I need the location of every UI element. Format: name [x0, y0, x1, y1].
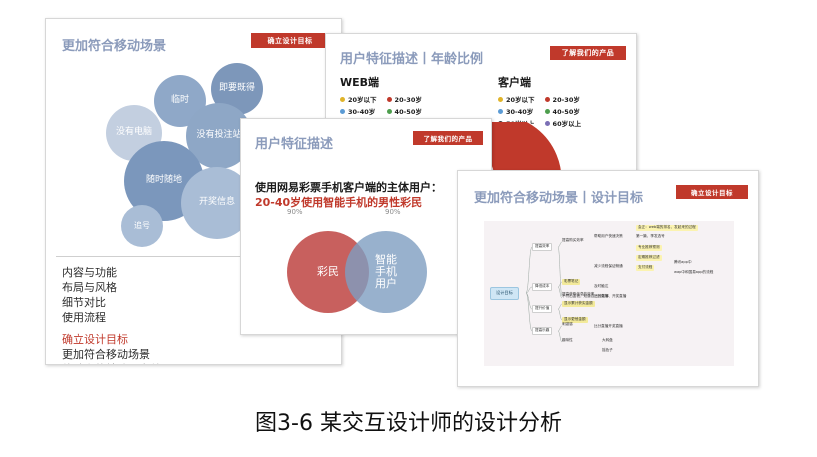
outline-item: 使用流程: [62, 310, 161, 325]
legend-swatch-icon: [545, 109, 550, 114]
mindmap-leaf: wap中和国易app的流程: [674, 271, 713, 275]
legend-swatch-icon: [340, 109, 345, 114]
outline-item: 内容与功能: [62, 265, 161, 280]
legend-label: 20-30岁: [553, 94, 580, 104]
mindmap-branch: 提升价值: [532, 305, 552, 313]
outline-item: 确立设计目标: [62, 332, 161, 347]
legend-swatch-icon: [498, 97, 503, 102]
figure-caption: 图3-6 某交互设计师的设计分析: [0, 405, 817, 437]
mindmap-leaf: 比分直播、开奖直播: [594, 295, 626, 299]
venn-circle-smartphone: 智能手机用户: [345, 231, 427, 313]
legend-item: 20-30岁: [387, 94, 424, 104]
mindmap-leaf: 减少流程保证畅通: [594, 265, 623, 269]
legend-label: 20-30岁: [395, 94, 422, 104]
outline-item: 布局与风格: [62, 280, 161, 295]
legend-item: 20-30岁: [545, 94, 582, 104]
mindmap-leaf: 及时触达: [594, 285, 608, 289]
mindmap-leaf: 定期推荐过滤: [636, 255, 662, 261]
slide1-title: 更加符合移动场景: [62, 35, 166, 54]
mindmap-edge: [558, 247, 562, 296]
legend-label: 30-40岁: [506, 106, 533, 116]
slide4-title: 更加符合移动场景丨设计目标: [474, 187, 643, 206]
legend-swatch-icon: [387, 109, 392, 114]
slide-user-profile[interactable]: 用户特征描述 了解我们的产品 使用网易彩票手机客户端的主体用户： 20-40岁使…: [240, 118, 492, 335]
slide-design-goal[interactable]: 更加符合移动场景丨设计目标 确立设计目标 设计目标提高效率提高购买效率提高获取信…: [457, 170, 759, 387]
bubble-6: 追号: [121, 205, 163, 247]
slide3-product-button[interactable]: 了解我们的产品: [413, 131, 483, 145]
mindmap-child: 彩票笔记: [562, 279, 580, 285]
mindmap-root: 设计目标: [490, 287, 519, 300]
mindmap-leaf: 第一篇、季发选号: [636, 235, 665, 239]
venn-diagram: 彩民 智能手机用户: [283, 225, 458, 325]
mindmap-leaf: 摇色子: [602, 349, 613, 353]
mindmap-branch: 降低成本: [532, 283, 552, 291]
slide4-goal-button[interactable]: 确立设计目标: [676, 185, 748, 199]
legend-swatch-icon: [387, 97, 392, 102]
mindmap-branch: 提高效率: [532, 243, 552, 251]
mindmap-leaf: 会正：web端的排名、发起来的过程: [636, 225, 698, 231]
legend-group-client-title: 客户端: [498, 74, 581, 90]
legend-item: 20岁以下: [340, 94, 377, 104]
legend-swatch-icon: [340, 97, 345, 102]
mindmap-child: 提高购买效率: [562, 239, 584, 243]
venn-label-lottery: 彩民: [317, 266, 339, 278]
mindmap-leaf: 腾讯app中: [674, 261, 692, 265]
mindmap-child: 刺激感: [562, 323, 573, 327]
slide2-title: 用户特征描述丨年龄比例: [340, 48, 483, 67]
legend-label: 40-50岁: [553, 106, 580, 116]
slide1-goal-button[interactable]: 确立设计目标: [251, 33, 329, 48]
legend-item: 30-40岁: [498, 106, 535, 116]
mindmap-branch: 提高乐趣: [532, 327, 552, 335]
legend-item: 40-50岁: [545, 106, 582, 116]
legend-item: 30-40岁: [340, 106, 377, 116]
figure-stage: 更加符合移动场景 确立设计目标 临时即要既得没有电脑没有投注站随时随地开奖信息追…: [0, 0, 817, 457]
legend-label: 30-40岁: [348, 106, 375, 116]
mindmap-leaf: 支付流程: [636, 265, 654, 271]
legend-label: 20岁以下: [348, 94, 377, 104]
mindmap-child: 趣味性: [562, 339, 573, 343]
legend-swatch-icon: [498, 109, 503, 114]
venn-label-smartphone: 智能手机用户: [375, 254, 397, 290]
slide3-statement-primary: 使用网易彩票手机客户端的主体用户：: [255, 179, 442, 195]
slide2-product-button[interactable]: 了解我们的产品: [550, 46, 626, 60]
mindmap-leaf: 比分直播开奖直播: [594, 325, 623, 329]
mindmap-leaf: 帮助用户快速决策: [594, 235, 623, 239]
outline-item: 更加符合移动场景: [62, 347, 161, 362]
mindmap-child: 显示累计获实金额: [562, 301, 595, 307]
legend-item: 40-50岁: [387, 106, 424, 116]
legend-label: 20岁以下: [506, 94, 535, 104]
legend-group-web-title: WEB端: [340, 74, 423, 90]
percent-left: 90%: [287, 208, 303, 216]
legend-item: 20岁以下: [498, 94, 535, 104]
outline-item: 体验上的精致与完善: [62, 362, 161, 365]
mindmap: 设计目标提高效率提高购买效率提高获取信息的效率降低成本彩票笔记不付出金钱，知道自…: [484, 221, 734, 366]
mindmap-leaf: 大转盘: [602, 339, 613, 343]
legend-label: 40-50岁: [395, 106, 422, 116]
outline-gap: [62, 325, 161, 332]
slide1-outline-list: 内容与功能布局与风格细节对比使用流程确立设计目标更加符合移动场景体验上的精致与完…: [62, 265, 161, 365]
slide3-title: 用户特征描述: [255, 133, 333, 152]
percent-right: 90%: [385, 208, 401, 216]
legend-group-client: 客户端 20岁以下20-30岁30-40岁40-50岁50岁以上60岁以上: [498, 74, 581, 128]
legend-swatch-icon: [545, 97, 550, 102]
mindmap-leaf: 专业推荐预测: [636, 245, 662, 251]
outline-item: 细节对比: [62, 295, 161, 310]
